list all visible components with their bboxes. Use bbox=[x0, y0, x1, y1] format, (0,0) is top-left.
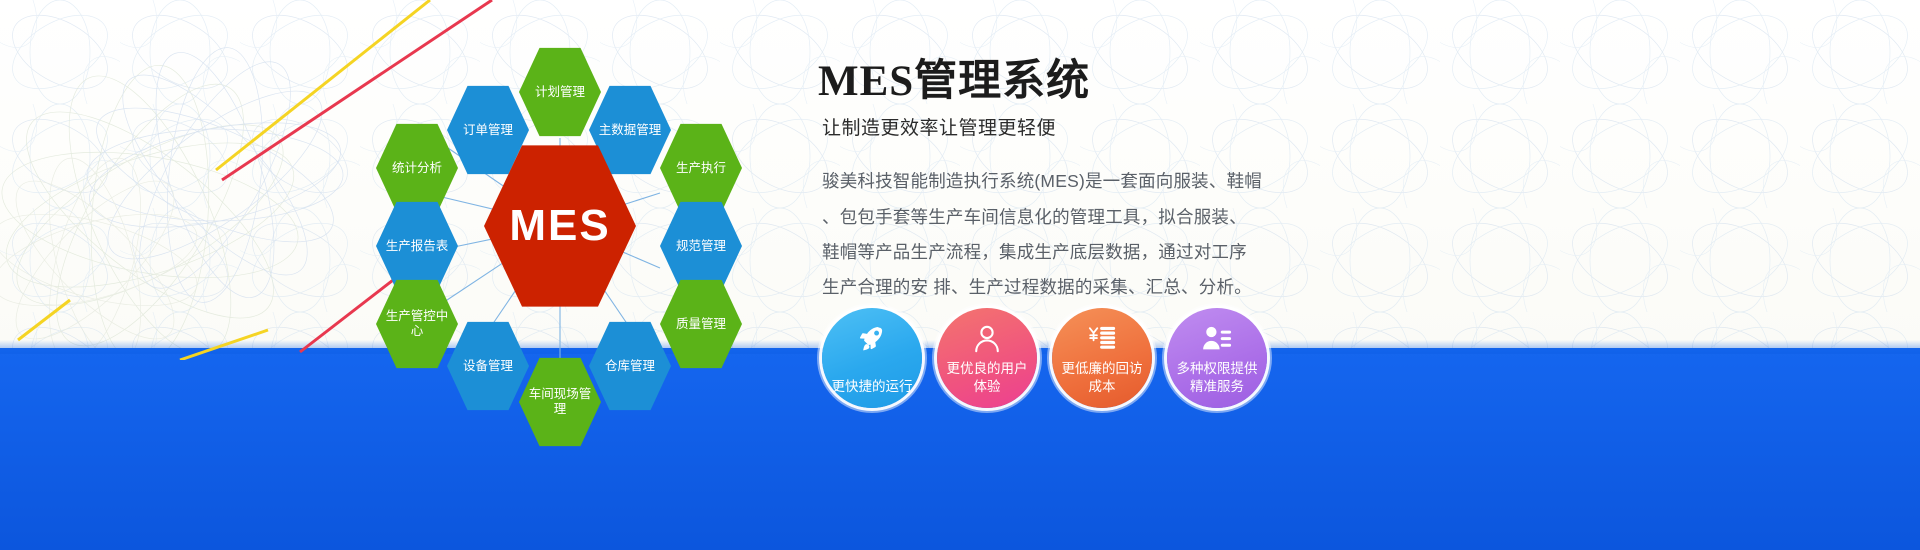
page-subtitle: 让制造更效率让管理更轻便 bbox=[822, 113, 1878, 140]
hex-label: 仓库管理 bbox=[601, 359, 659, 374]
hex-label: 质量管理 bbox=[672, 317, 730, 332]
center-label: MES bbox=[505, 200, 614, 252]
hex-label: 生产管控中心 bbox=[376, 309, 458, 339]
hex-label: 规范管理 bbox=[672, 239, 730, 254]
feature-badges: 更快捷的运行 更优良的用户体验 bbox=[822, 308, 1267, 408]
hex-label: 生产执行 bbox=[672, 161, 730, 176]
paragraph-line: 鞋帽等产品生产流程，集成生产底层数据，通过对工序 bbox=[822, 235, 1274, 270]
mes-hexagon-diagram: 计划管理 订单管理 主数据管理 统计分析 生产执行 生产报告表 规范管理 生产管… bbox=[330, 18, 770, 438]
hex-label: 设备管理 bbox=[459, 359, 517, 374]
badge-precise-service[interactable]: 多种权限提供精准服务 bbox=[1167, 308, 1267, 408]
hex-label: 生产报告表 bbox=[382, 239, 453, 254]
hex-label: 统计分析 bbox=[388, 161, 446, 176]
user-icon bbox=[972, 324, 1002, 354]
description-paragraph: 骏美科技智能制造执行系统(MES)是一套面向服装、鞋帽 、包包手套等生产车间信息… bbox=[822, 164, 1274, 305]
badge-lower-cost[interactable]: 更低廉的回访成本 bbox=[1052, 308, 1152, 408]
hex-label: 车间现场管理 bbox=[519, 387, 601, 417]
banner-text-column: MES管理系统 让制造更效率让管理更轻便 骏美科技智能制造执行系统(MES)是一… bbox=[818, 58, 1878, 306]
paragraph-line: 骏美科技智能制造执行系统(MES)是一套面向服装、鞋帽 bbox=[822, 164, 1274, 199]
mes-banner: 计划管理 订单管理 主数据管理 统计分析 生产执行 生产报告表 规范管理 生产管… bbox=[0, 0, 1920, 550]
badge-label: 更快捷的运行 bbox=[826, 378, 918, 396]
hex-label: 订单管理 bbox=[459, 123, 517, 138]
paragraph-line: 、包包手套等生产车间信息化的管理工具，拟合服装、 bbox=[822, 200, 1274, 235]
badge-label: 更优良的用户体验 bbox=[941, 360, 1033, 396]
coins-icon bbox=[1087, 324, 1117, 354]
page-title: MES管理系统 bbox=[818, 58, 1878, 105]
badge-better-experience[interactable]: 更优良的用户体验 bbox=[937, 308, 1037, 408]
badge-label: 更低廉的回访成本 bbox=[1056, 360, 1148, 396]
permissions-icon bbox=[1202, 324, 1232, 354]
hex-label: 计划管理 bbox=[531, 85, 589, 100]
badge-label: 多种权限提供精准服务 bbox=[1171, 360, 1263, 396]
hex-label: 主数据管理 bbox=[595, 123, 666, 138]
paragraph-line: 生产合理的安 排、生产过程数据的采集、汇总、分析。 bbox=[822, 270, 1274, 305]
badge-faster-operation[interactable]: 更快捷的运行 bbox=[822, 308, 922, 408]
rocket-icon bbox=[857, 324, 887, 354]
